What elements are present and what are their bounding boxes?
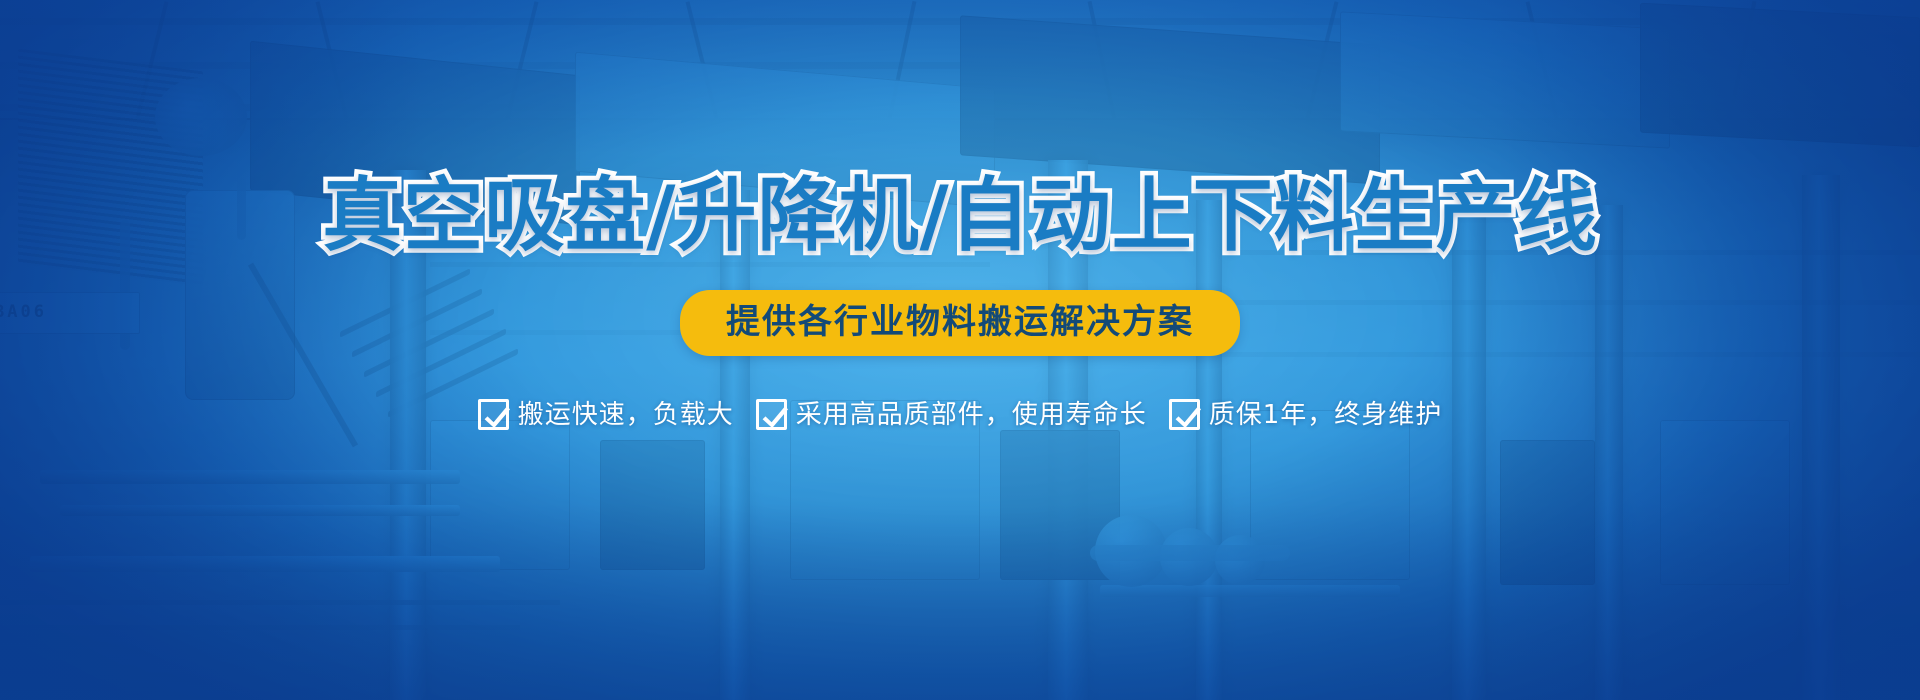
feature-item: 质保1年，终身维护 <box>1169 399 1443 430</box>
check-icon <box>478 399 509 430</box>
feature-list: 搬运快速，负载大 采用高品质部件，使用寿命长 质保1年，终身维护 <box>0 399 1920 430</box>
tagline-button[interactable]: 提供各行业物料搬运解决方案 <box>680 290 1240 356</box>
check-icon <box>756 399 787 430</box>
feature-item: 采用高品质部件，使用寿命长 <box>756 399 1147 430</box>
feature-label: 采用高品质部件，使用寿命长 <box>796 402 1147 428</box>
feature-label: 质保1年，终身维护 <box>1209 402 1443 428</box>
feature-label: 搬运快速，负载大 <box>518 402 734 428</box>
page-title: 真空吸盘/升降机/自动上下料生产线 <box>0 176 1920 256</box>
hero-banner: BA06 <box>0 0 1920 700</box>
feature-item: 搬运快速，负载大 <box>478 399 734 430</box>
check-icon <box>1169 399 1200 430</box>
